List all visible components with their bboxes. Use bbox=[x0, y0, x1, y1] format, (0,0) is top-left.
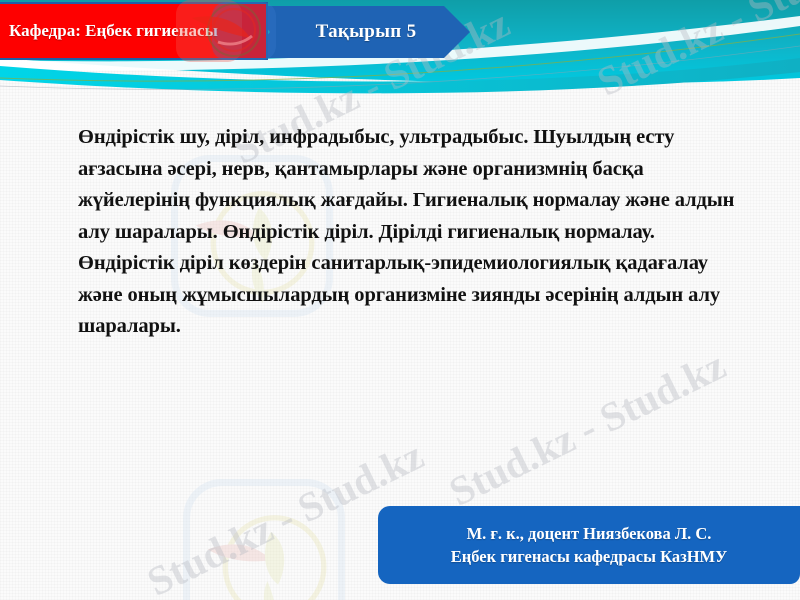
department-banner: Кафедра: Еңбек гигиенасы bbox=[0, 2, 268, 60]
topic-badge-label: Тақырып 5 bbox=[248, 6, 470, 58]
author-affiliation: Еңбек гигенасы кафедрасы КазНМУ bbox=[451, 545, 727, 568]
slide-body-text: Өндірістік шу, діріл, инфрадыбыс, ультра… bbox=[78, 122, 748, 343]
topic-badge: Тақырып 5 bbox=[248, 6, 470, 58]
department-banner-label: Кафедра: Еңбек гигиенасы bbox=[0, 21, 222, 41]
site-watermark: Stud.kz - Stud.kz bbox=[441, 341, 732, 516]
author-name: М. ғ. к., доцент Ниязбекова Л. С. bbox=[467, 522, 712, 545]
author-footer: М. ғ. к., доцент Ниязбекова Л. С. Еңбек … bbox=[378, 506, 800, 584]
slide-canvas: Тақырып 5 Кафедра: Еңбек гигиенасы Stud.… bbox=[0, 0, 800, 600]
hummingbird-logo-watermark bbox=[176, 472, 352, 600]
